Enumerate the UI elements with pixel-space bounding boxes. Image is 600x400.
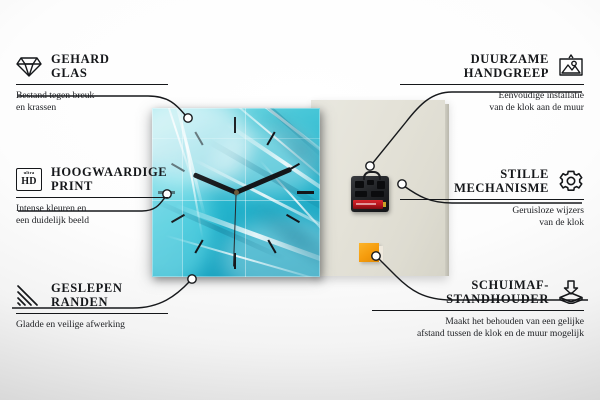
battery: [353, 200, 383, 209]
hanger-loop: [363, 171, 381, 180]
press-pad-icon: [558, 280, 584, 304]
callout-rule: [16, 313, 168, 314]
callout-title: SCHUIMAF- STANDHOUDER: [446, 278, 549, 306]
hour-tick: [234, 117, 236, 133]
callout-subtitle: Maakt het behouden van een gelijke afsta…: [372, 316, 584, 340]
ultra-hd-large-text: HD: [21, 177, 36, 187]
reflection-line-vertical: [245, 108, 246, 277]
callout-title: DUURZAME HANDGREEP: [464, 52, 549, 80]
callout-title: GEHARD GLAS: [51, 52, 109, 80]
callout-subtitle: Geruisloze wijzers van de klok: [400, 205, 584, 229]
hands-hub: [234, 190, 239, 195]
gear-icon: [558, 169, 584, 193]
foam-spacer-pad: [359, 243, 379, 262]
callout-title: STILLE MECHANISME: [454, 167, 549, 195]
callout-schuimafstandhouder: SCHUIMAF- STANDHOUDER Maakt het behouden…: [372, 278, 584, 340]
reflection-line-horizontal: [152, 138, 320, 139]
callout-hoogwaardige-print: ultra HD HOOGWAARDIGE PRINT Intense kleu…: [16, 165, 206, 227]
callout-rule: [372, 310, 584, 311]
callout-subtitle: Bestand tegen breuk en krassen: [16, 90, 196, 114]
infographic-canvas: GEHARD GLAS Bestand tegen breuk en krass…: [0, 0, 600, 400]
callout-rule: [400, 84, 584, 85]
callout-gehard-glas: GEHARD GLAS Bestand tegen breuk en krass…: [16, 52, 196, 114]
callout-title: HOOGWAARDIGE PRINT: [51, 165, 167, 193]
callout-rule: [16, 84, 168, 85]
callout-stille-mechanisme: STILLE MECHANISME Geruisloze wijzers van…: [400, 167, 584, 229]
callout-title: GESLEPEN RANDEN: [51, 281, 123, 309]
callout-rule: [400, 199, 584, 200]
hour-tick: [297, 191, 314, 194]
beveled-edges-icon: [16, 283, 42, 307]
diamond-icon: [16, 54, 42, 78]
picture-frame-icon: [558, 54, 584, 78]
callout-subtitle: Gladde en veilige afwerking: [16, 319, 206, 331]
callout-duurzame-handgreep: DUURZAME HANDGREEP Eenvoudige installati…: [400, 52, 584, 114]
callout-subtitle: Intense kleuren en een duidelijk beeld: [16, 203, 206, 227]
ultra-hd-icon: ultra HD: [16, 168, 42, 191]
callout-geslepen-randen: GESLEPEN RANDEN Gladde en veilige afwerk…: [16, 281, 206, 331]
quartz-mechanism: [351, 176, 389, 212]
callout-rule: [16, 197, 168, 198]
callout-subtitle: Eenvoudige installatie van de klok aan d…: [400, 90, 584, 114]
